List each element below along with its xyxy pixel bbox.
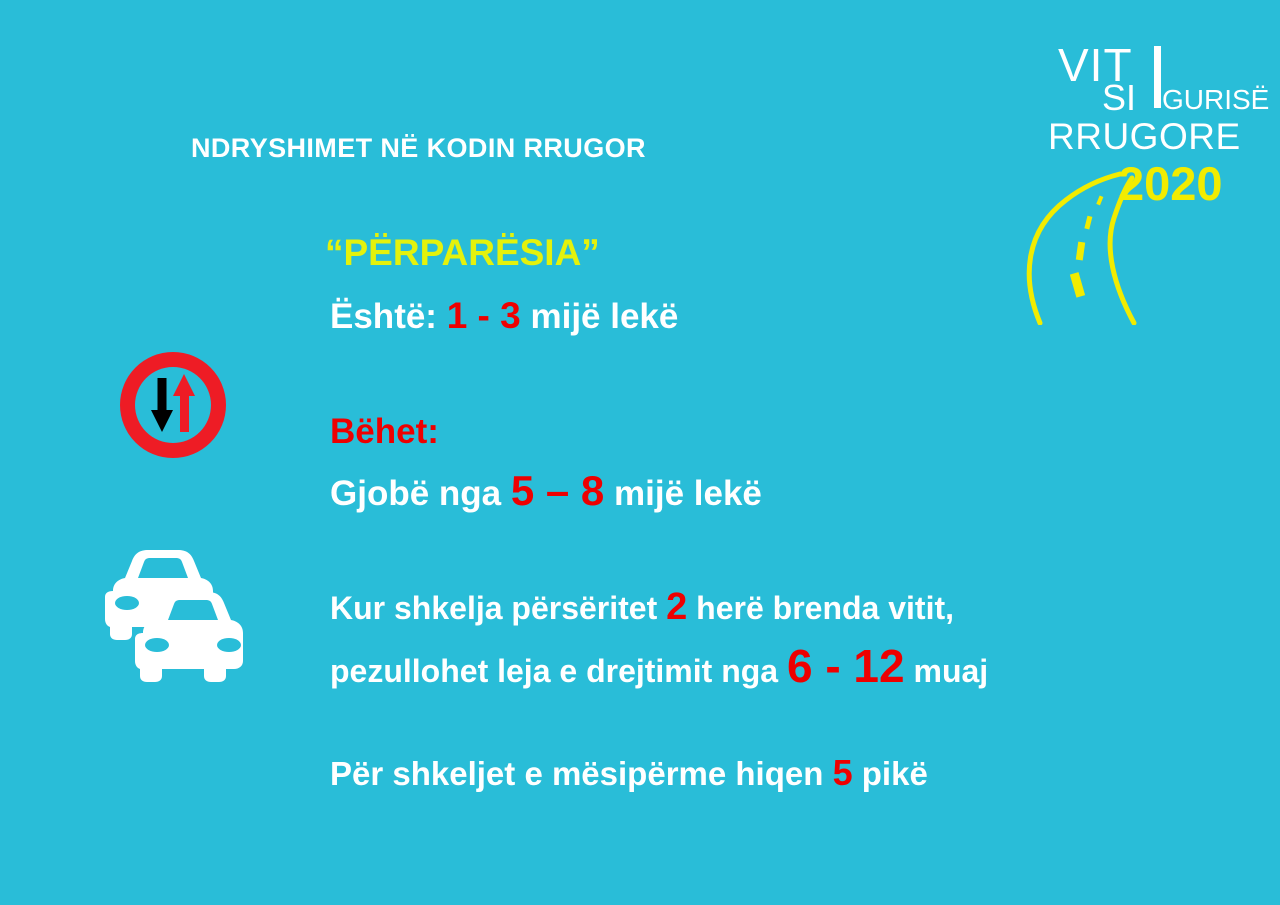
new-fine-prefix: Gjobë nga [330,474,501,513]
two-cars-icon [80,535,265,690]
new-fine-amount: 5 – 8 [511,467,604,514]
points-unit: pikë [862,755,928,792]
logo-gurise-text: GURISË [1162,86,1269,114]
current-fine-line: Është: 1 - 3 mijë lekë [330,297,678,334]
current-fine-amount: 1 - 3 [447,295,521,336]
repeat-prefix: Kur shkelja përsëritet [330,590,657,626]
logo-wordmark: VIT SI GURISË RRUGORE [1010,40,1240,150]
repeat-offence-line: Kur shkelja përsëritet 2 herë brenda vit… [330,588,954,626]
topic-heading: “PËRPARËSIA” [325,234,600,271]
becomes-label: Bëhet: [330,414,439,449]
suspension-prefix: pezullohet leja e drejtimit nga [330,653,778,689]
current-fine-label: Është: [330,297,437,336]
suspension-months: 6 - 12 [787,640,905,692]
penalty-points-line: Për shkeljet e mësipërme hiqen 5 pikë [330,755,928,791]
new-fine-unit: mijë lekë [614,474,762,513]
logo-rrugore-text: RRUGORE [1048,118,1241,155]
suspension-line: pezullohet leja e drejtimit nga 6 - 12 m… [330,643,988,689]
logo-si-text: SI [1102,80,1136,116]
new-fine-line: Gjobë nga 5 – 8 mijë lekë [330,470,762,512]
points-count: 5 [833,752,853,793]
page-title: NDRYSHIMET NË KODIN RRUGOR [191,133,646,164]
logo-i-bar [1154,46,1161,108]
campaign-logo: VIT SI GURISË RRUGORE 2020 [1010,40,1240,320]
curved-road-icon [1010,160,1170,325]
give-way-to-oncoming-traffic-sign-icon [118,350,228,460]
repeat-count: 2 [666,586,687,628]
poster-canvas: VIT SI GURISË RRUGORE 2020 NDRYSHIMET NË… [0,0,1280,905]
current-fine-unit: mijë lekë [530,297,678,336]
suspension-months-unit: muaj [914,653,989,689]
repeat-middle: herë brenda vitit, [696,590,954,626]
points-prefix: Për shkeljet e mësipërme hiqen [330,755,823,792]
